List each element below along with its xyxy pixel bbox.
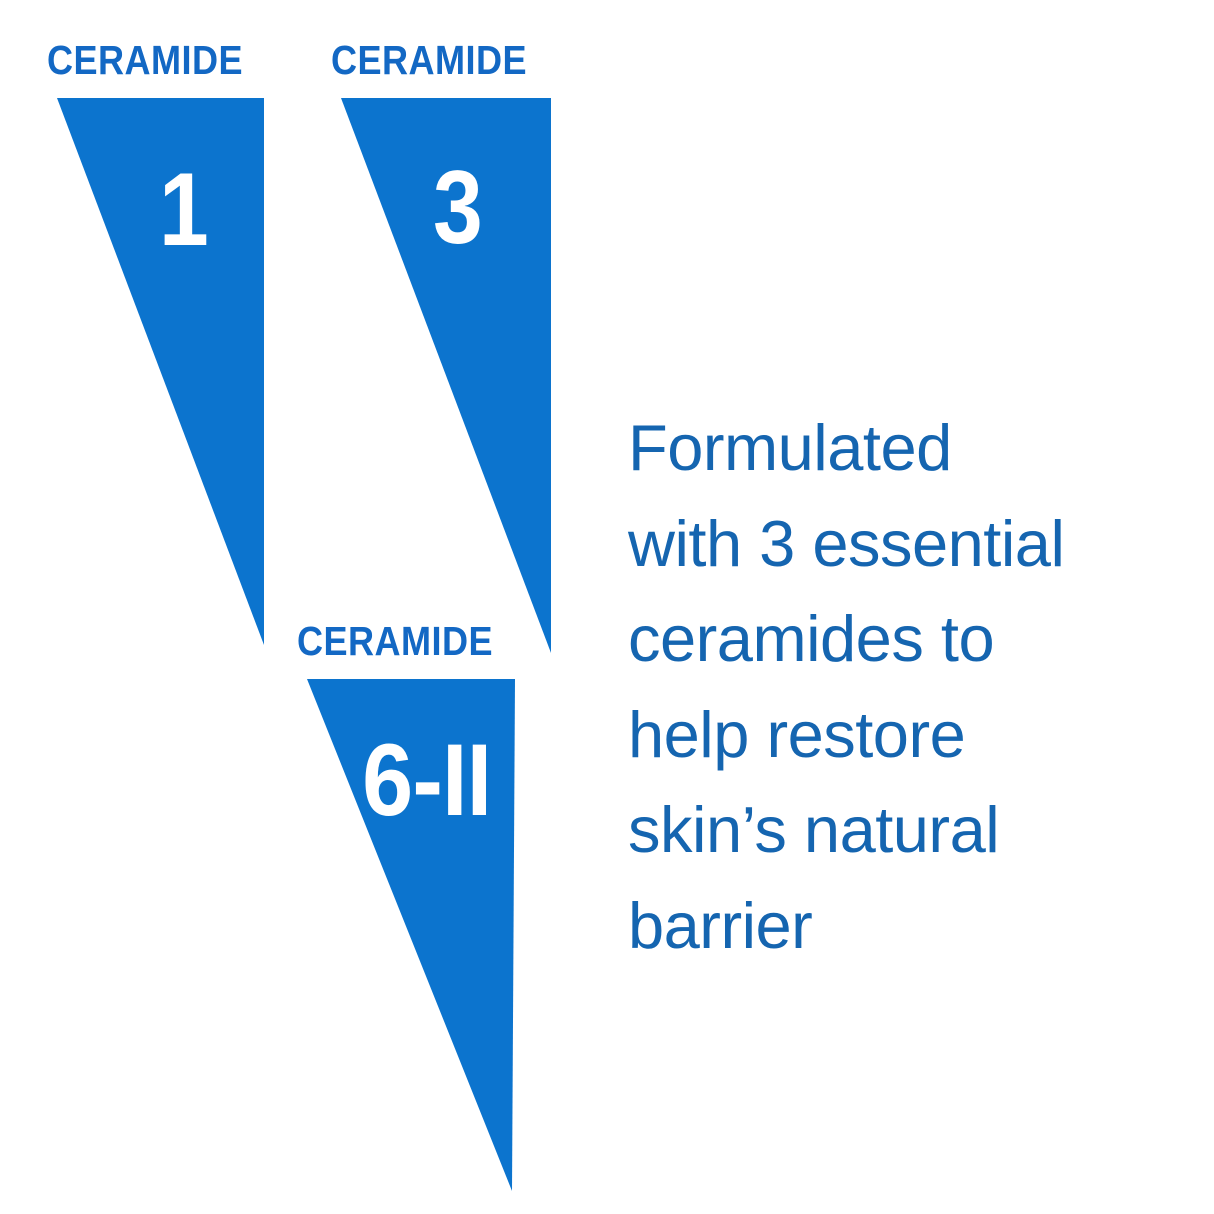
ceramide-number-3: 3 bbox=[433, 156, 483, 260]
ceramide-block-3: CERAMIDE 3 bbox=[331, 40, 591, 630]
ceramide-number-6-ii: 6-II bbox=[362, 729, 491, 831]
headline-line-6: barrier bbox=[628, 878, 1158, 974]
ceramide-label-3: CERAMIDE bbox=[331, 40, 527, 81]
headline-text: Formulated with 3 essential ceramides to… bbox=[628, 400, 1158, 973]
headline-line-5: skin’s natural bbox=[628, 782, 1158, 878]
ceramide-block-6-ii: CERAMIDE 6-II bbox=[297, 621, 557, 1201]
headline-line-3: ceramides to bbox=[628, 591, 1158, 687]
ceramide-wedge-1-icon bbox=[47, 98, 267, 648]
ceramide-block-1: CERAMIDE 1 bbox=[47, 40, 307, 620]
ceramide-label-6-ii: CERAMIDE bbox=[297, 621, 493, 662]
ceramide-label-1: CERAMIDE bbox=[47, 40, 243, 81]
headline-line-2: with 3 essential bbox=[628, 496, 1158, 592]
ceramide-graphic-canvas: CERAMIDE 1 CERAMIDE 3 CERAMIDE 6-II Form… bbox=[0, 0, 1214, 1214]
headline-line-4: help restore bbox=[628, 687, 1158, 783]
ceramide-number-1: 1 bbox=[159, 158, 209, 262]
headline-line-1: Formulated bbox=[628, 400, 1158, 496]
